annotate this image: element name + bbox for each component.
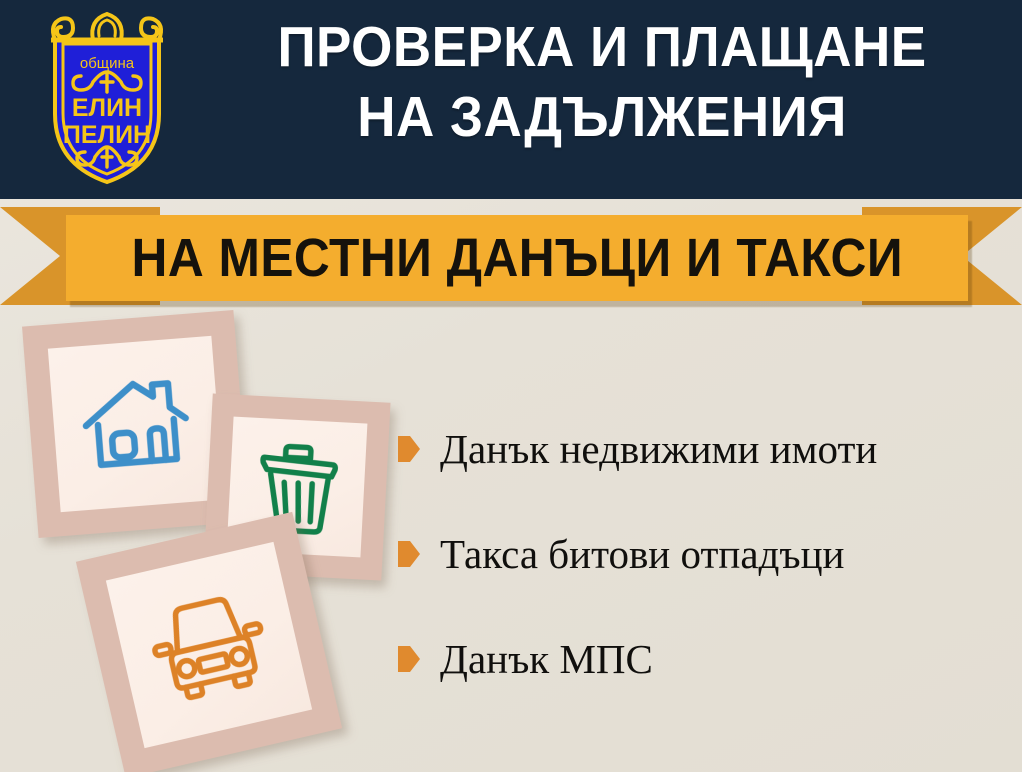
list-item-label: Данък МПС [440, 635, 653, 683]
header-title-block: ПРОВЕРКА И ПЛАЩАНЕ НА ЗАДЪЛЖЕНИЯ [190, 12, 1014, 152]
page-title-line-1: ПРОВЕРКА И ПЛАЩАНЕ [219, 12, 985, 82]
arrow-bullet-icon [398, 541, 420, 567]
ribbon-label: НА МЕСТНИ ДАНЪЦИ И ТАКСИ [131, 227, 903, 289]
poster-canvas: община ЕЛИН ПЕЛИН ПРОВЕРКА И ПЛАЩАНЕ НА … [0, 0, 1022, 772]
header-bar: община ЕЛИН ПЕЛИН ПРОВЕРКА И ПЛАЩАНЕ НА … [0, 0, 1022, 199]
municipality-crest-logo: община ЕЛИН ПЕЛИН [27, 6, 187, 188]
tax-type-list: Данък недвижими имоти Такса битови отпад… [398, 424, 1013, 739]
list-item-label: Такса битови отпадъци [440, 530, 844, 578]
page-title-line-2: НА ЗАДЪЛЖЕНИЯ [219, 82, 985, 152]
arrow-bullet-icon [398, 646, 420, 672]
list-item-label: Данък недвижими имоти [440, 425, 877, 473]
crest-label-top: община [80, 55, 135, 72]
house-icon [77, 372, 194, 476]
ribbon-banner: НА МЕСТНИ ДАНЪЦИ И ТАКСИ [66, 215, 968, 301]
list-item[interactable]: Данък недвижими имоти [398, 424, 1013, 474]
stamp-inner [48, 336, 224, 512]
subtitle-ribbon: НА МЕСТНИ ДАНЪЦИ И ТАКСИ [0, 199, 1022, 311]
stamp-inner [106, 542, 312, 748]
list-item[interactable]: Данък МПС [398, 634, 1013, 684]
list-item[interactable]: Такса битови отпадъци [398, 529, 1013, 579]
crest-label-line2: ПЕЛИН [63, 121, 151, 149]
car-icon [141, 583, 277, 707]
crest-label-line1: ЕЛИН [72, 94, 142, 122]
arrow-bullet-icon [398, 436, 420, 462]
